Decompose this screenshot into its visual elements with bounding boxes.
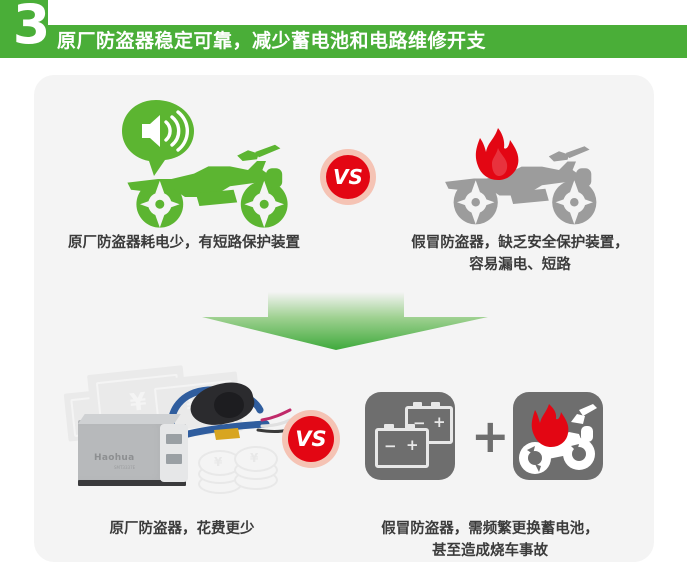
battery-plus-back: +: [433, 415, 446, 430]
connector-slot: [166, 434, 182, 444]
versus-label-top: VS: [333, 165, 363, 189]
battery-plus-front: +: [406, 438, 419, 453]
battery-replacement-icon: − + − +: [365, 392, 455, 480]
device-and-money-illustration: ¥ ¥ ¥ ¥ ¥: [62, 362, 312, 502]
header-step-number: 3: [8, 0, 54, 56]
flame-icon: [472, 128, 524, 186]
alarm-device-top: [78, 414, 181, 424]
burning-motorcycle-icon: [513, 392, 603, 480]
device-brand-label: Haohua: [94, 454, 134, 463]
bottom-right-caption-line1: 假冒防盗器，需频繁更换蓄电池，: [340, 518, 640, 540]
motorcycle-silhouette-green: [122, 143, 302, 233]
top-left-caption: 原厂防盗器耗电少，有短路保护装置: [34, 232, 334, 254]
battery-terminal: [431, 402, 440, 407]
plus-separator-icon: +: [471, 413, 510, 459]
coin-yen: ¥: [250, 452, 258, 464]
battery-terminal: [413, 402, 422, 407]
siren-horn-mouth: [214, 392, 244, 418]
top-right-caption-line1: 假冒防盗器，缺乏安全保护装置，: [370, 232, 670, 254]
bottom-right-caption-line2: 甚至造成烧车事故: [340, 540, 640, 562]
motorcycle-silhouette-gray: [440, 144, 610, 230]
coin-top-right: ¥: [234, 446, 278, 472]
coin-yen: ¥: [214, 456, 222, 468]
device-model-label: SMT3337E: [114, 466, 135, 470]
page-root: 3 原厂防盗器稳定可靠，减少蓄电池和电路维修开支: [0, 0, 687, 576]
battery-minus-front: −: [384, 439, 397, 454]
connector-slot: [166, 454, 182, 464]
header-title: 原厂防盗器稳定可靠，减少蓄电池和电路维修开支: [57, 25, 486, 58]
bottom-left-caption: 原厂防盗器，花费更少: [52, 518, 312, 540]
gray-motorcycle-illustration: [440, 130, 620, 230]
battery-terminal: [405, 424, 415, 429]
battery-terminal: [384, 424, 394, 429]
down-arrow: [200, 292, 490, 352]
burning-motorcycle-glyph: [513, 392, 603, 480]
top-right-caption-line2: 容易漏电、短路: [370, 254, 670, 276]
device-connector: [160, 424, 188, 482]
versus-badge-top: VS: [326, 155, 370, 199]
green-motorcycle-illustration: [120, 98, 300, 223]
versus-badge-bottom: VS: [288, 416, 334, 462]
versus-label-bottom: VS: [295, 427, 326, 451]
